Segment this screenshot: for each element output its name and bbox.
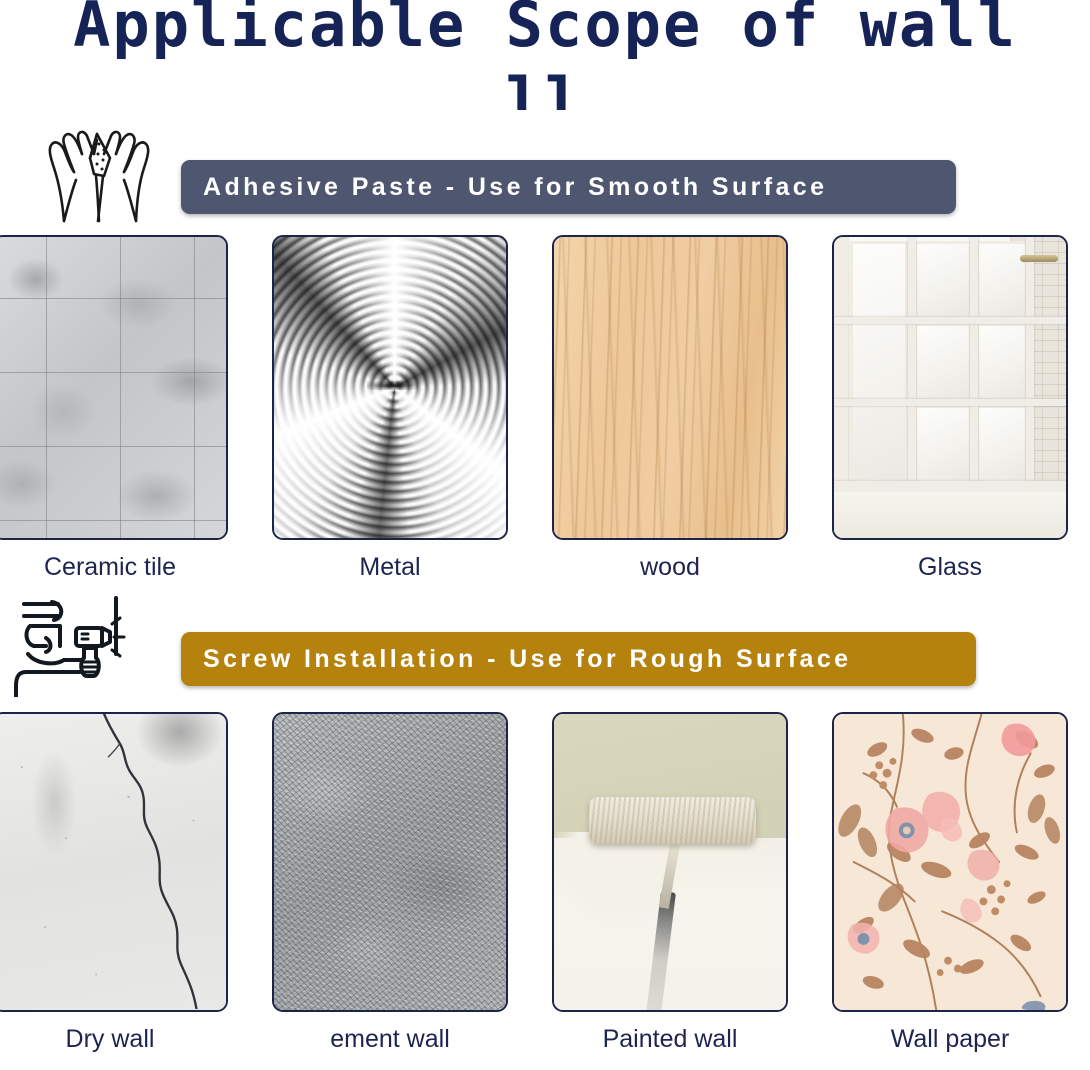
cracked-plaster-texture — [0, 714, 226, 1010]
paint-roller-texture — [554, 714, 786, 1010]
page-title-line-2: ll — [0, 68, 1090, 110]
banner-adhesive-paste: Adhesive Paste - Use for Smooth Surface — [181, 160, 956, 214]
surface-tile-glass[interactable] — [832, 235, 1068, 540]
paint-edge — [554, 832, 675, 927]
wall-crack-icon — [0, 714, 226, 1009]
glass-frame-vertical — [970, 237, 978, 497]
glass-pane — [976, 405, 1028, 483]
hands-peeling-adhesive-icon — [24, 118, 174, 228]
surface-tile-metal[interactable] — [272, 235, 508, 540]
glass-pane — [914, 405, 972, 483]
surface-caption-glass: Glass — [832, 553, 1068, 582]
glass-pane — [914, 323, 972, 401]
surface-tile-wood[interactable] — [552, 235, 788, 540]
page-title: Applicable Scope of wall — [0, 0, 1090, 57]
surface-caption-painted: Painted wall — [552, 1025, 788, 1054]
surface-tile-ceramic[interactable] — [0, 235, 228, 540]
glass-frame-vertical — [1026, 237, 1034, 497]
surface-caption-cement: ement wall — [272, 1025, 508, 1054]
banner-adhesive-label: Adhesive Paste - Use for Smooth Surface — [203, 173, 827, 202]
banner-screw-label: Screw Installation - Use for Rough Surfa… — [203, 645, 851, 674]
glass-frame-horizontal — [834, 399, 1068, 406]
paint-roller-icon — [589, 797, 756, 844]
drill-installation-icon — [2, 592, 162, 702]
surface-tile-painted[interactable] — [552, 712, 788, 1012]
page-title-line-1: Applicable Scope of wall — [0, 0, 1090, 57]
banner-screw-installation: Screw Installation - Use for Rough Surfa… — [181, 632, 976, 686]
glass-floor — [834, 492, 1066, 538]
surface-tile-wallpaper[interactable] — [832, 712, 1068, 1012]
window-handle-icon — [1020, 255, 1058, 262]
glass-pane — [914, 241, 972, 319]
metal-center-highlight — [367, 381, 418, 390]
glass-window-texture — [834, 237, 1066, 538]
glass-pane — [976, 241, 1028, 319]
glass-pane — [976, 323, 1028, 401]
surface-tile-cement[interactable] — [272, 712, 508, 1012]
ceramic-tile-texture — [0, 237, 226, 538]
wood-grain-texture — [554, 237, 786, 538]
surface-caption-wallpaper: Wall paper — [832, 1025, 1068, 1054]
surface-tile-drywall[interactable] — [0, 712, 228, 1012]
glass-frame-horizontal — [834, 317, 1068, 324]
brushed-metal-texture — [274, 237, 506, 538]
rough-cement-texture — [274, 714, 506, 1010]
surface-caption-metal: Metal — [272, 553, 508, 582]
glass-frame-vertical — [908, 237, 916, 497]
glass-pane — [850, 241, 908, 491]
surface-caption-wood: wood — [552, 553, 788, 582]
surface-caption-ceramic: Ceramic tile — [0, 553, 228, 582]
infographic-page: Applicable Scope of wall ll — [0, 0, 1090, 1070]
floral-wallpaper-texture — [834, 714, 1066, 1010]
surface-caption-drywall: Dry wall — [0, 1025, 228, 1054]
